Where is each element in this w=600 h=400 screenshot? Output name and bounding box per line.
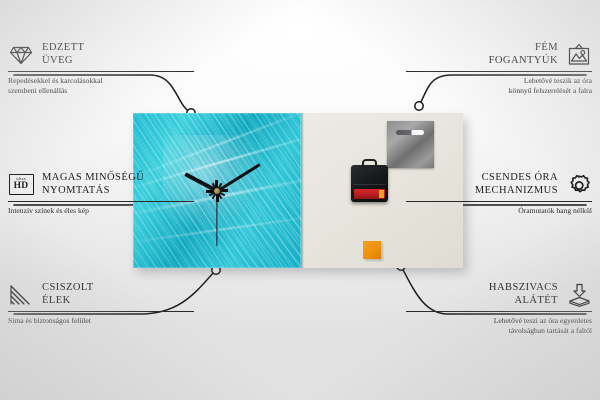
feature-high-quality-print: ultra HD MAGAS MINŐSÉGŰ NYOMTATÁS Intenz… <box>8 172 194 216</box>
mechanism-loop <box>362 159 377 169</box>
feature-header: ultra HD MAGAS MINŐSÉGŰ NYOMTATÁS <box>8 172 194 197</box>
clock-center-hub <box>214 188 220 194</box>
feature-divider <box>8 201 194 202</box>
gear-icon <box>566 173 592 197</box>
feature-title: HABSZIVACS ALÁTÉT <box>406 282 558 307</box>
feature-divider <box>406 201 592 202</box>
metal-hanger <box>387 121 434 168</box>
feature-divider <box>406 311 592 312</box>
polished-edges-icon <box>8 283 34 307</box>
feature-title: FÉM FOGANTYÚK <box>406 42 558 67</box>
feature-foam-pad: HABSZIVACS ALÁTÉT Lehetővé teszi az óra … <box>406 282 592 336</box>
hanger-slot <box>396 130 424 135</box>
feature-description: Repedésekkel és karcolásokkal szembeni e… <box>8 76 194 96</box>
feature-header: HABSZIVACS ALÁTÉT <box>406 282 592 307</box>
feature-quiet-mechanism: CSENDES ÓRA MECHANIZMUS Óramutatók hang … <box>406 172 592 216</box>
connector-dot-handles <box>415 102 423 110</box>
feature-header: EDZETT ÜVEG <box>8 42 194 67</box>
feature-title: MAGAS MINŐSÉGŰ NYOMTATÁS <box>42 172 144 197</box>
ultra-hd-main-label: HD <box>14 182 29 192</box>
ultra-hd-icon: ultra HD <box>8 173 34 197</box>
feature-metal-handles: FÉM FOGANTYÚK Lehetővé teszik az óra kön… <box>406 42 592 96</box>
foam-press-icon <box>566 283 592 307</box>
feature-description: Lehetővé teszi az óra egyenletes távolsá… <box>406 316 592 336</box>
battery <box>354 189 385 199</box>
feature-description: Óramutatók hang nélkül <box>406 206 592 216</box>
feature-description: Intenzív színek és éles kép <box>8 206 194 216</box>
feature-polished-edges: CSISZOLT ÉLEK Sima és biztonságos felüle… <box>8 282 194 326</box>
feature-description: Sima és biztonságos felület <box>8 316 194 326</box>
feature-title: CSENDES ÓRA MECHANIZMUS <box>406 172 558 197</box>
feature-title: EDZETT ÜVEG <box>42 42 84 67</box>
infographic-stage: EDZETT ÜVEG Repedésekkel és karcolásokka… <box>0 0 600 400</box>
picture-hanger-icon <box>566 43 592 67</box>
feature-header: CSISZOLT ÉLEK <box>8 282 194 307</box>
feature-description: Lehetővé teszik az óra könnyű felszerelé… <box>406 76 592 96</box>
hour-tick-9 <box>217 190 279 192</box>
feature-divider <box>406 71 592 72</box>
foam-pad <box>363 241 381 259</box>
feature-header: CSENDES ÓRA MECHANIZMUS <box>406 172 592 197</box>
feature-divider <box>8 311 194 312</box>
diamond-icon <box>8 43 34 67</box>
feature-header: FÉM FOGANTYÚK <box>406 42 592 67</box>
clock-mechanism <box>351 165 388 202</box>
feature-tempered-glass: EDZETT ÜVEG Repedésekkel és karcolásokka… <box>8 42 194 96</box>
mechanism-seam <box>353 184 386 185</box>
feature-title: CSISZOLT ÉLEK <box>42 282 94 307</box>
hour-tick-6 <box>216 129 218 191</box>
feature-divider <box>8 71 194 72</box>
